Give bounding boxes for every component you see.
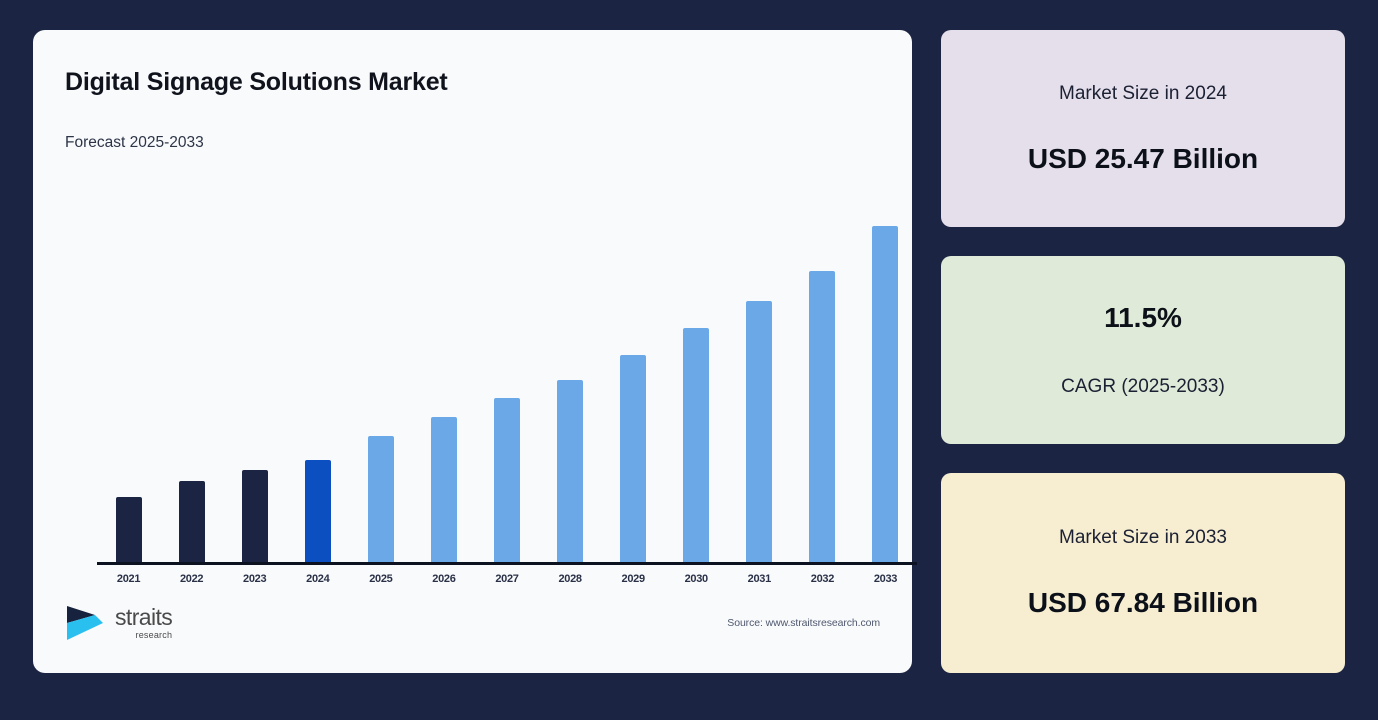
x-axis-label-2032: 2032: [791, 573, 854, 585]
page-title: Digital Signage Solutions Market: [65, 68, 880, 97]
bar-2029: [620, 355, 646, 562]
stat-card-label: Market Size in 2024: [1059, 83, 1227, 105]
x-axis-label-2033: 2033: [854, 573, 917, 585]
stat-card-value: 11.5%: [1104, 302, 1182, 334]
bar-2025: [368, 436, 394, 562]
bar-2024: [305, 460, 331, 562]
logo-tagline: research: [136, 631, 173, 640]
bar-slot: [475, 205, 538, 562]
bar-slot: [665, 205, 728, 562]
bar-slot: [160, 205, 223, 562]
stat-card-label: Market Size in 2033: [1059, 527, 1227, 549]
bar-slot: [791, 205, 854, 562]
source-attribution: Source: www.straitsresearch.com: [727, 617, 880, 629]
x-axis-label-2021: 2021: [97, 573, 160, 585]
logo-name: straits: [115, 606, 172, 629]
bar-2030: [683, 328, 709, 562]
stat-card-list: Market Size in 2024 USD 25.47 Billion 11…: [941, 30, 1345, 690]
bar-2022: [179, 481, 205, 562]
bar-slot: [412, 205, 475, 562]
bar-2028: [557, 380, 583, 562]
bar-2023: [242, 470, 268, 562]
bar-slot: [602, 205, 665, 562]
bar-slot: [854, 205, 917, 562]
x-axis-label-2027: 2027: [475, 573, 538, 585]
x-axis-label-2023: 2023: [223, 573, 286, 585]
straits-research-logo: straits research: [65, 603, 172, 643]
bar-2031: [746, 301, 772, 562]
arrow-logo-icon: [65, 603, 109, 643]
x-axis-label-2029: 2029: [602, 573, 665, 585]
bar-chart-plot: [97, 205, 919, 565]
stat-card-label: CAGR (2025-2033): [1061, 376, 1225, 398]
stat-card-cagr: 11.5% CAGR (2025-2033): [941, 256, 1345, 444]
x-axis-label-2022: 2022: [160, 573, 223, 585]
bar-slot: [539, 205, 602, 562]
bar-slot: [97, 205, 160, 562]
stat-card-value: USD 25.47 Billion: [1028, 143, 1258, 175]
bar-slot: [223, 205, 286, 562]
x-axis-label-2031: 2031: [728, 573, 791, 585]
x-axis-label-2025: 2025: [349, 573, 412, 585]
x-axis-line: [97, 562, 917, 565]
bar-2026: [431, 417, 457, 562]
bar-2032: [809, 271, 835, 562]
chart-subtitle: Forecast 2025-2033: [65, 134, 880, 152]
x-axis-label-2028: 2028: [539, 573, 602, 585]
chart-panel: Digital Signage Solutions Market Forecas…: [33, 30, 912, 673]
bar-series: [97, 205, 917, 562]
bar-slot: [286, 205, 349, 562]
bar-2033: [872, 226, 898, 562]
bar-2027: [494, 398, 520, 562]
infographic-page: Digital Signage Solutions Market Forecas…: [0, 0, 1378, 720]
bar-slot: [728, 205, 791, 562]
chart-footer: straits research Source: www.straitsrese…: [65, 595, 880, 651]
stat-card-market-size-2024: Market Size in 2024 USD 25.47 Billion: [941, 30, 1345, 227]
stat-card-market-size-2033: Market Size in 2033 USD 67.84 Billion: [941, 473, 1345, 673]
bar-2021: [116, 497, 142, 562]
x-axis-labels: 2021202220232024202520262027202820292030…: [97, 573, 917, 585]
x-axis-label-2024: 2024: [286, 573, 349, 585]
x-axis-label-2030: 2030: [665, 573, 728, 585]
stat-card-value: USD 67.84 Billion: [1028, 587, 1258, 619]
x-axis-label-2026: 2026: [412, 573, 475, 585]
bar-slot: [349, 205, 412, 562]
logo-wordmark: straits research: [115, 606, 172, 640]
